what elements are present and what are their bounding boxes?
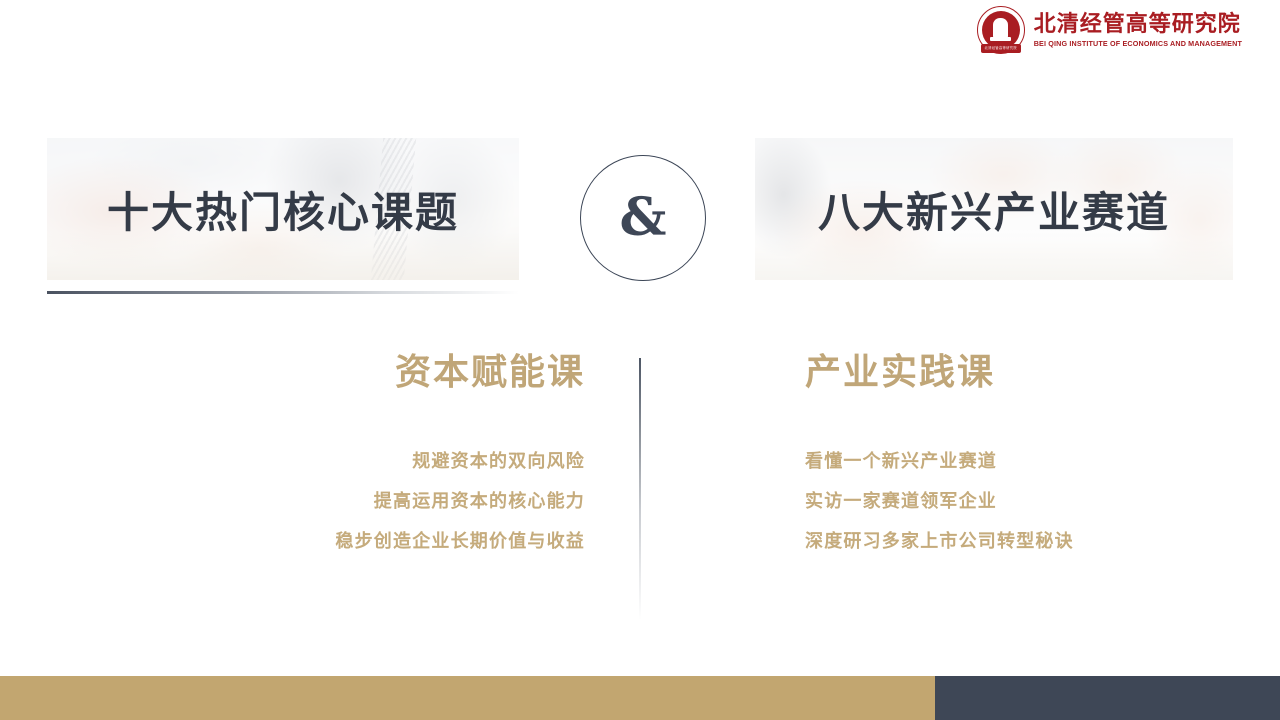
- column-left: 资本赋能课 规避资本的双向风险 提高运用资本的核心能力 稳步创造企业长期价值与收…: [60, 352, 585, 550]
- hero-title-left: 十大热门核心课题: [107, 179, 459, 240]
- hero-card-right: 八大新兴产业赛道: [755, 138, 1233, 280]
- list-item: 提高运用资本的核心能力: [60, 492, 585, 510]
- list-item: 稳步创造企业长期价值与收益: [60, 532, 585, 550]
- footer-bar-gold: [0, 676, 935, 720]
- hero-card-left: 十大热门核心课题: [47, 138, 519, 280]
- brand-logo: 北清经管高等研究院 北清经管高等研究院 BEI QING INSTITUTE O…: [977, 6, 1242, 54]
- logo-bell-glyph: [993, 18, 1008, 38]
- footer-bar: [0, 676, 1280, 720]
- slide-canvas: 北清经管高等研究院 北清经管高等研究院 BEI QING INSTITUTE O…: [0, 0, 1280, 720]
- bell-seal-icon: 北清经管高等研究院: [977, 6, 1025, 54]
- footer-bar-navy: [935, 676, 1280, 720]
- list-item: 深度研习多家上市公司转型秘诀: [805, 532, 1225, 550]
- list-item: 规避资本的双向风险: [60, 452, 585, 470]
- column-right-heading: 产业实践课: [805, 352, 1225, 392]
- list-item: 看懂一个新兴产业赛道: [805, 452, 1225, 470]
- ampersand-circle: &: [580, 155, 706, 281]
- brand-name-cn: 北清经管高等研究院: [1034, 12, 1242, 36]
- list-item: 实访一家赛道领军企业: [805, 492, 1225, 510]
- hero-title-right: 八大新兴产业赛道: [818, 179, 1170, 240]
- ampersand-glyph: &: [620, 192, 667, 244]
- column-right-list: 看懂一个新兴产业赛道 实访一家赛道领军企业 深度研习多家上市公司转型秘诀: [805, 452, 1225, 550]
- column-right: 产业实践课 看懂一个新兴产业赛道 实访一家赛道领军企业 深度研习多家上市公司转型…: [805, 352, 1225, 550]
- column-left-heading: 资本赋能课: [60, 352, 585, 392]
- column-divider: [639, 358, 641, 620]
- logo-ribbon: 北清经管高等研究院: [981, 44, 1021, 53]
- column-left-list: 规避资本的双向风险 提高运用资本的核心能力 稳步创造企业长期价值与收益: [60, 452, 585, 550]
- hero-underline-left: [47, 291, 519, 294]
- brand-name-en: BEI QING INSTITUTE OF ECONOMICS AND MANA…: [1034, 39, 1242, 48]
- brand-logo-text: 北清经管高等研究院 BEI QING INSTITUTE OF ECONOMIC…: [1034, 12, 1242, 48]
